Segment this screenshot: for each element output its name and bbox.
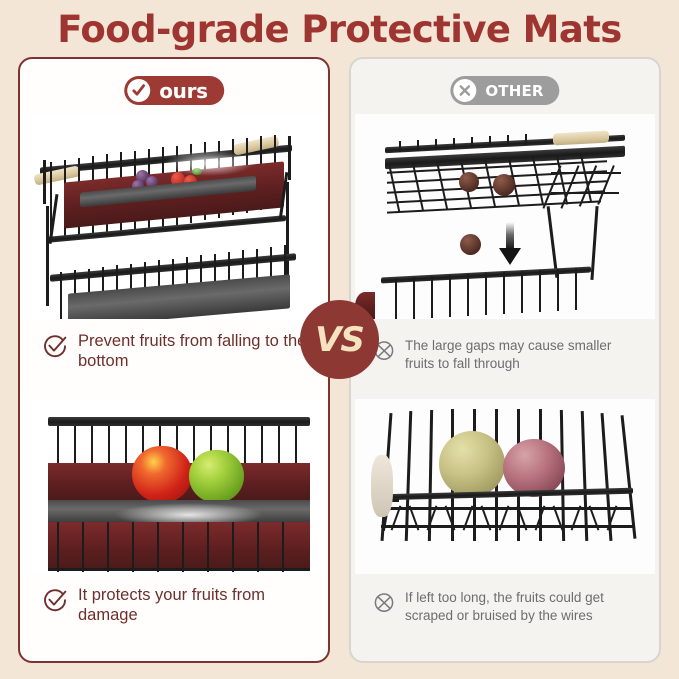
caption-other-2: If left too long, the fruits could get s… [373, 589, 641, 624]
photo-other-fruit-falling [355, 114, 655, 319]
panel-other: OTHER [349, 57, 661, 663]
vs-label: VS [315, 320, 364, 360]
down-arrow-icon [497, 222, 523, 271]
caption-ours-2-text: It protects your fruits from damage [78, 585, 310, 625]
check-circle-icon [127, 79, 150, 102]
page-title: Food-grade Protective Mats [0, 8, 679, 51]
caption-other-2-text: If left too long, the fruits could get s… [405, 589, 641, 624]
badge-ours: ours [124, 76, 224, 105]
x-circle-icon [453, 79, 476, 102]
check-circle-icon [42, 587, 68, 618]
photo-other-bruised-fruit [355, 399, 655, 574]
vs-badge: VS [300, 300, 379, 379]
caption-ours-2: It protects your fruits from damage [42, 585, 310, 625]
photo-ours-basket-with-mat [24, 114, 324, 319]
photo-ours-apples-on-mat [24, 399, 324, 574]
badge-ours-label: ours [159, 79, 208, 103]
caption-ours-1-text: Prevent fruits from falling to the botto… [78, 331, 310, 371]
x-circle-icon [373, 591, 395, 618]
check-circle-icon [42, 333, 68, 364]
caption-other-1: The large gaps may cause smaller fruits … [373, 337, 641, 372]
caption-other-1-text: The large gaps may cause smaller fruits … [405, 337, 641, 372]
panel-ours: ours [18, 57, 330, 663]
badge-other: OTHER [450, 76, 559, 105]
badge-other-label: OTHER [485, 82, 543, 100]
caption-ours-1: Prevent fruits from falling to the botto… [42, 331, 310, 371]
